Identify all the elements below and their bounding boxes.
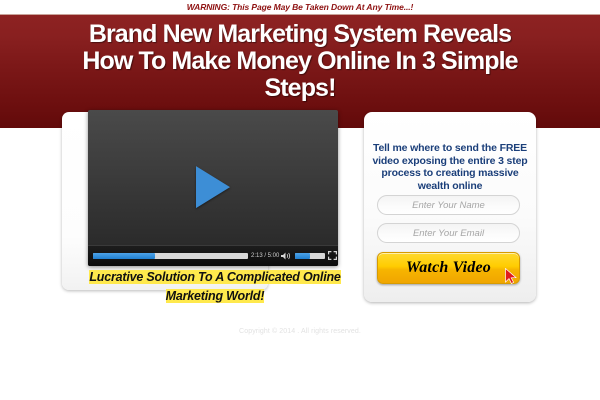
video-control-bar[interactable]: 2:13 / 5:00 — [88, 245, 338, 266]
subheading-line-2: Marketing World! — [166, 289, 265, 303]
video-player[interactable]: 2:13 / 5:00 — [88, 110, 338, 266]
headline-line-2: How To Make Money Online In 3 Simple — [0, 48, 600, 75]
volume-slider-fill — [295, 253, 310, 259]
seek-bar[interactable] — [93, 253, 248, 259]
watch-video-button[interactable]: Watch Video — [377, 252, 520, 284]
subheading-line-1: Lucrative Solution To A Complicated Onli… — [89, 270, 340, 284]
page-headline: Brand New Marketing System Reveals How T… — [0, 21, 600, 102]
play-triangle-icon[interactable] — [196, 166, 230, 208]
email-input[interactable] — [377, 223, 520, 243]
form-headline: Tell me where to send the FREE video exp… — [368, 142, 532, 192]
fullscreen-icon[interactable] — [328, 251, 337, 260]
video-subheading: Lucrative Solution To A Complicated Onli… — [70, 268, 360, 306]
seek-bar-fill — [93, 253, 155, 259]
warning-strip: WARNING: This Page May Be Taken Down At … — [0, 0, 600, 14]
headline-line-1: Brand New Marketing System Reveals — [0, 21, 600, 48]
headline-line-3: Steps! — [0, 75, 600, 102]
warning-text: WARNING: This Page May Be Taken Down At … — [0, 0, 600, 14]
footer-copyright: Copyright © 2014 . All rights reserved. — [0, 327, 600, 337]
video-time-label: 2:13 / 5:00 — [251, 251, 279, 261]
volume-slider[interactable] — [295, 253, 325, 259]
speaker-icon[interactable] — [280, 251, 292, 261]
name-input[interactable] — [377, 195, 520, 215]
